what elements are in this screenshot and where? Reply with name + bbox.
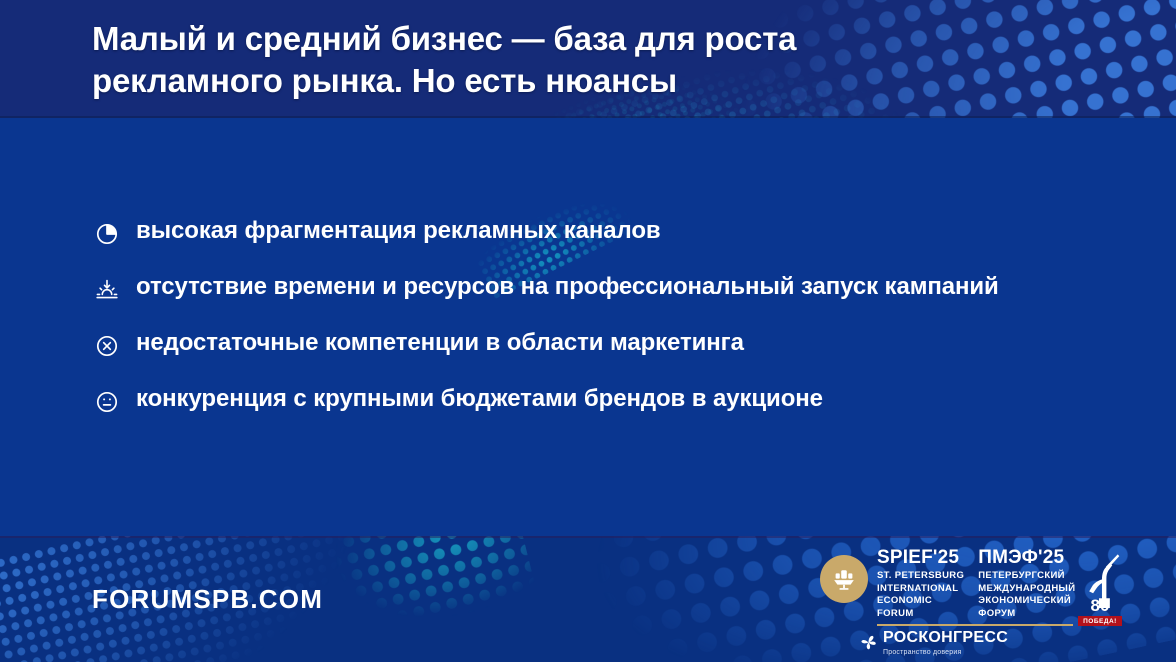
roscongress-logo: РОСКОНГРЕСС Пространство доверия [860, 630, 1008, 656]
victory-80-emblem: 80 ПОБЕДА! [1072, 550, 1128, 626]
list-item: отсутствие времени и ресурсов на професс… [92, 271, 1102, 305]
list-item-label: недостаточные компетенции в области марк… [136, 327, 744, 358]
logo-divider-rule [877, 624, 1073, 626]
website-url[interactable]: FORUMSPB.COM [92, 584, 323, 615]
dot-pattern-footer-teal [289, 536, 541, 662]
spief-logo-russian: ПМЭФ'25 ПЕТЕРБУРГСКИЙМЕЖДУНАРОДНЫЙЭКОНОМ… [978, 548, 1075, 620]
list-item-label: отсутствие времени и ресурсов на професс… [136, 271, 999, 302]
bullet-list: высокая фрагментация рекламных каналов о… [92, 215, 1102, 417]
spief-name-en: SPIEF'25 [877, 548, 964, 567]
victory-number: 80 [1091, 597, 1110, 614]
list-item: недостаточные компетенции в области марк… [92, 327, 1102, 361]
spief-subtitle-ru: ПЕТЕРБУРГСКИЙМЕЖДУНАРОДНЫЙЭКОНОМИЧЕСКИЙФ… [978, 570, 1075, 620]
spief-seal-emblem [820, 555, 868, 603]
list-item: высокая фрагментация рекламных каналов [92, 215, 1102, 249]
list-item: конкуренция с крупными бюджетами брендов… [92, 383, 1102, 417]
spief-logo-english: SPIEF'25 ST. PETERSBURGINTERNATIONALECON… [877, 548, 964, 620]
spief-name-ru: ПМЭФ'25 [978, 548, 1075, 567]
list-item-label: конкуренция с крупными бюджетами брендов… [136, 383, 823, 414]
slide-title: Малый и средний бизнес — база для роста … [92, 18, 952, 102]
circle-x-icon [92, 331, 122, 361]
roscongress-tagline: Пространство доверия [883, 649, 1008, 656]
victory-word: ПОБЕДА! [1078, 616, 1122, 626]
roscongress-pinwheel-icon [860, 634, 877, 651]
sunset-icon [92, 275, 122, 305]
pie-chart-icon [92, 219, 122, 249]
neutral-face-icon [92, 387, 122, 417]
spief-subtitle-en: ST. PETERSBURGINTERNATIONALECONOMICFORUM [877, 570, 964, 620]
presentation-slide: Малый и средний бизнес — база для роста … [0, 0, 1176, 662]
roscongress-name: РОСКОНГРЕСС [883, 630, 1008, 646]
list-item-label: высокая фрагментация рекламных каналов [136, 215, 661, 246]
spief-logo-lockup: SPIEF'25 ST. PETERSBURGINTERNATIONALECON… [820, 548, 1075, 656]
